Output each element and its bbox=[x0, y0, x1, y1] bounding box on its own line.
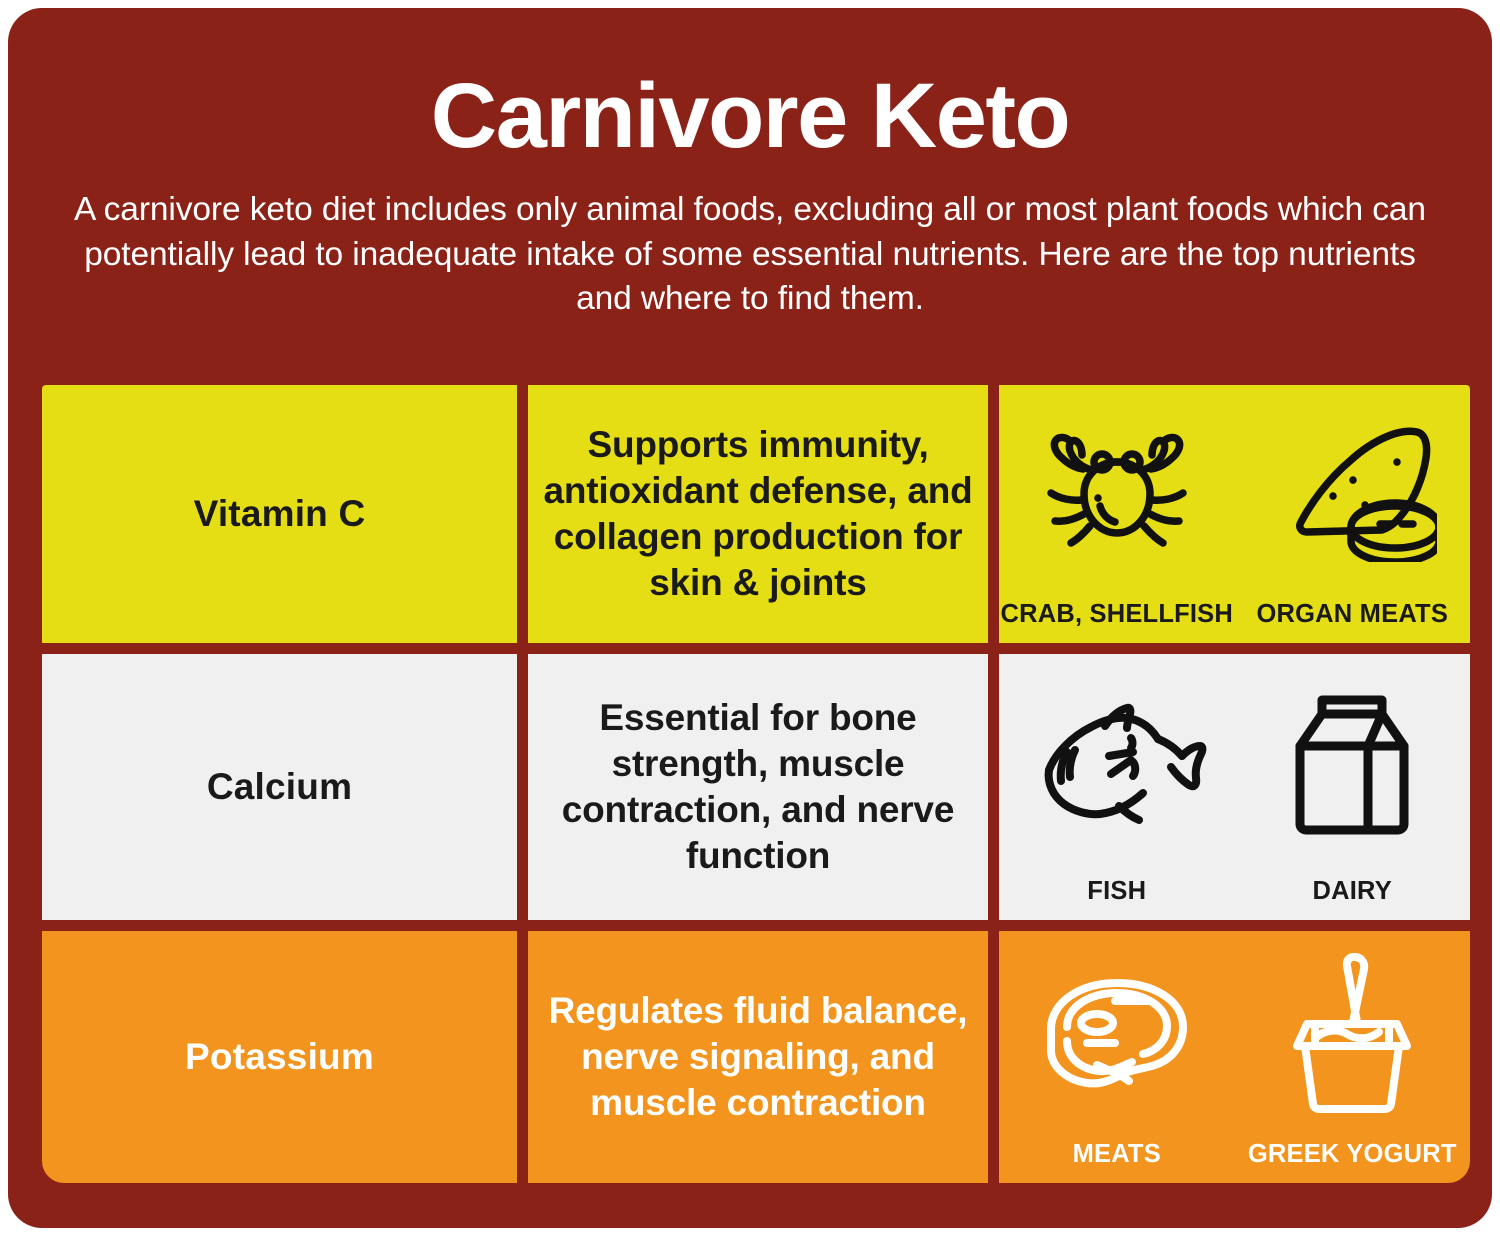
source-label: DAIRY bbox=[1313, 877, 1392, 906]
source-item: CRAB, SHELLFISH bbox=[999, 385, 1235, 643]
nutrient-benefit-cell: Essential for bone strength, muscle cont… bbox=[528, 654, 988, 920]
nutrient-sources-cell: FISH bbox=[999, 654, 1470, 920]
header: Carnivore Keto A carnivore keto diet inc… bbox=[8, 8, 1492, 322]
table-row: Potassium Regulates fluid balance, nerve… bbox=[42, 931, 1470, 1183]
steak-icon bbox=[999, 931, 1235, 1136]
nutrient-name-cell: Calcium bbox=[42, 654, 517, 920]
page-title: Carnivore Keto bbox=[8, 8, 1492, 162]
page-subtitle: A carnivore keto diet includes only anim… bbox=[70, 162, 1430, 322]
nutrient-name: Calcium bbox=[207, 766, 352, 808]
source-label: MEATS bbox=[1073, 1140, 1161, 1169]
organ-meat-icon bbox=[1235, 385, 1471, 596]
nutrients-table: Vitamin C Supports immunity, antioxidant… bbox=[42, 385, 1470, 1183]
source-item: FISH bbox=[999, 654, 1235, 920]
nutrient-sources-cell: MEATS bbox=[999, 931, 1470, 1183]
yogurt-cup-icon bbox=[1235, 931, 1471, 1136]
nutrient-benefit: Essential for bone strength, muscle cont… bbox=[528, 695, 988, 879]
source-item: DAIRY bbox=[1235, 654, 1471, 920]
infographic-card: Carnivore Keto A carnivore keto diet inc… bbox=[8, 8, 1492, 1228]
source-item: MEATS bbox=[999, 931, 1235, 1183]
source-label: ORGAN MEATS bbox=[1256, 600, 1448, 629]
nutrient-benefit-cell: Supports immunity, antioxidant defense, … bbox=[528, 385, 988, 643]
nutrient-name: Potassium bbox=[185, 1036, 374, 1078]
sources-list: FISH bbox=[999, 654, 1470, 920]
fish-icon bbox=[999, 654, 1235, 873]
source-label: CRAB, SHELLFISH bbox=[1001, 600, 1234, 629]
nutrient-sources-cell: CRAB, SHELLFISH bbox=[999, 385, 1470, 643]
nutrient-name-cell: Potassium bbox=[42, 931, 517, 1183]
source-label: GREEK YOGURT bbox=[1248, 1140, 1457, 1169]
milk-carton-icon bbox=[1235, 654, 1471, 873]
crab-icon bbox=[999, 385, 1235, 596]
source-label: FISH bbox=[1087, 877, 1146, 906]
nutrient-name-cell: Vitamin C bbox=[42, 385, 517, 643]
sources-list: CRAB, SHELLFISH bbox=[999, 385, 1470, 643]
source-item: GREEK YOGURT bbox=[1235, 931, 1471, 1183]
nutrient-name: Vitamin C bbox=[194, 493, 366, 535]
table-row: Vitamin C Supports immunity, antioxidant… bbox=[42, 385, 1470, 643]
sources-list: MEATS bbox=[999, 931, 1470, 1183]
source-item: ORGAN MEATS bbox=[1235, 385, 1471, 643]
nutrient-benefit-cell: Regulates fluid balance, nerve signaling… bbox=[528, 931, 988, 1183]
nutrient-benefit: Supports immunity, antioxidant defense, … bbox=[528, 422, 988, 606]
table-row: Calcium Essential for bone strength, mus… bbox=[42, 654, 1470, 920]
nutrient-benefit: Regulates fluid balance, nerve signaling… bbox=[528, 988, 988, 1126]
